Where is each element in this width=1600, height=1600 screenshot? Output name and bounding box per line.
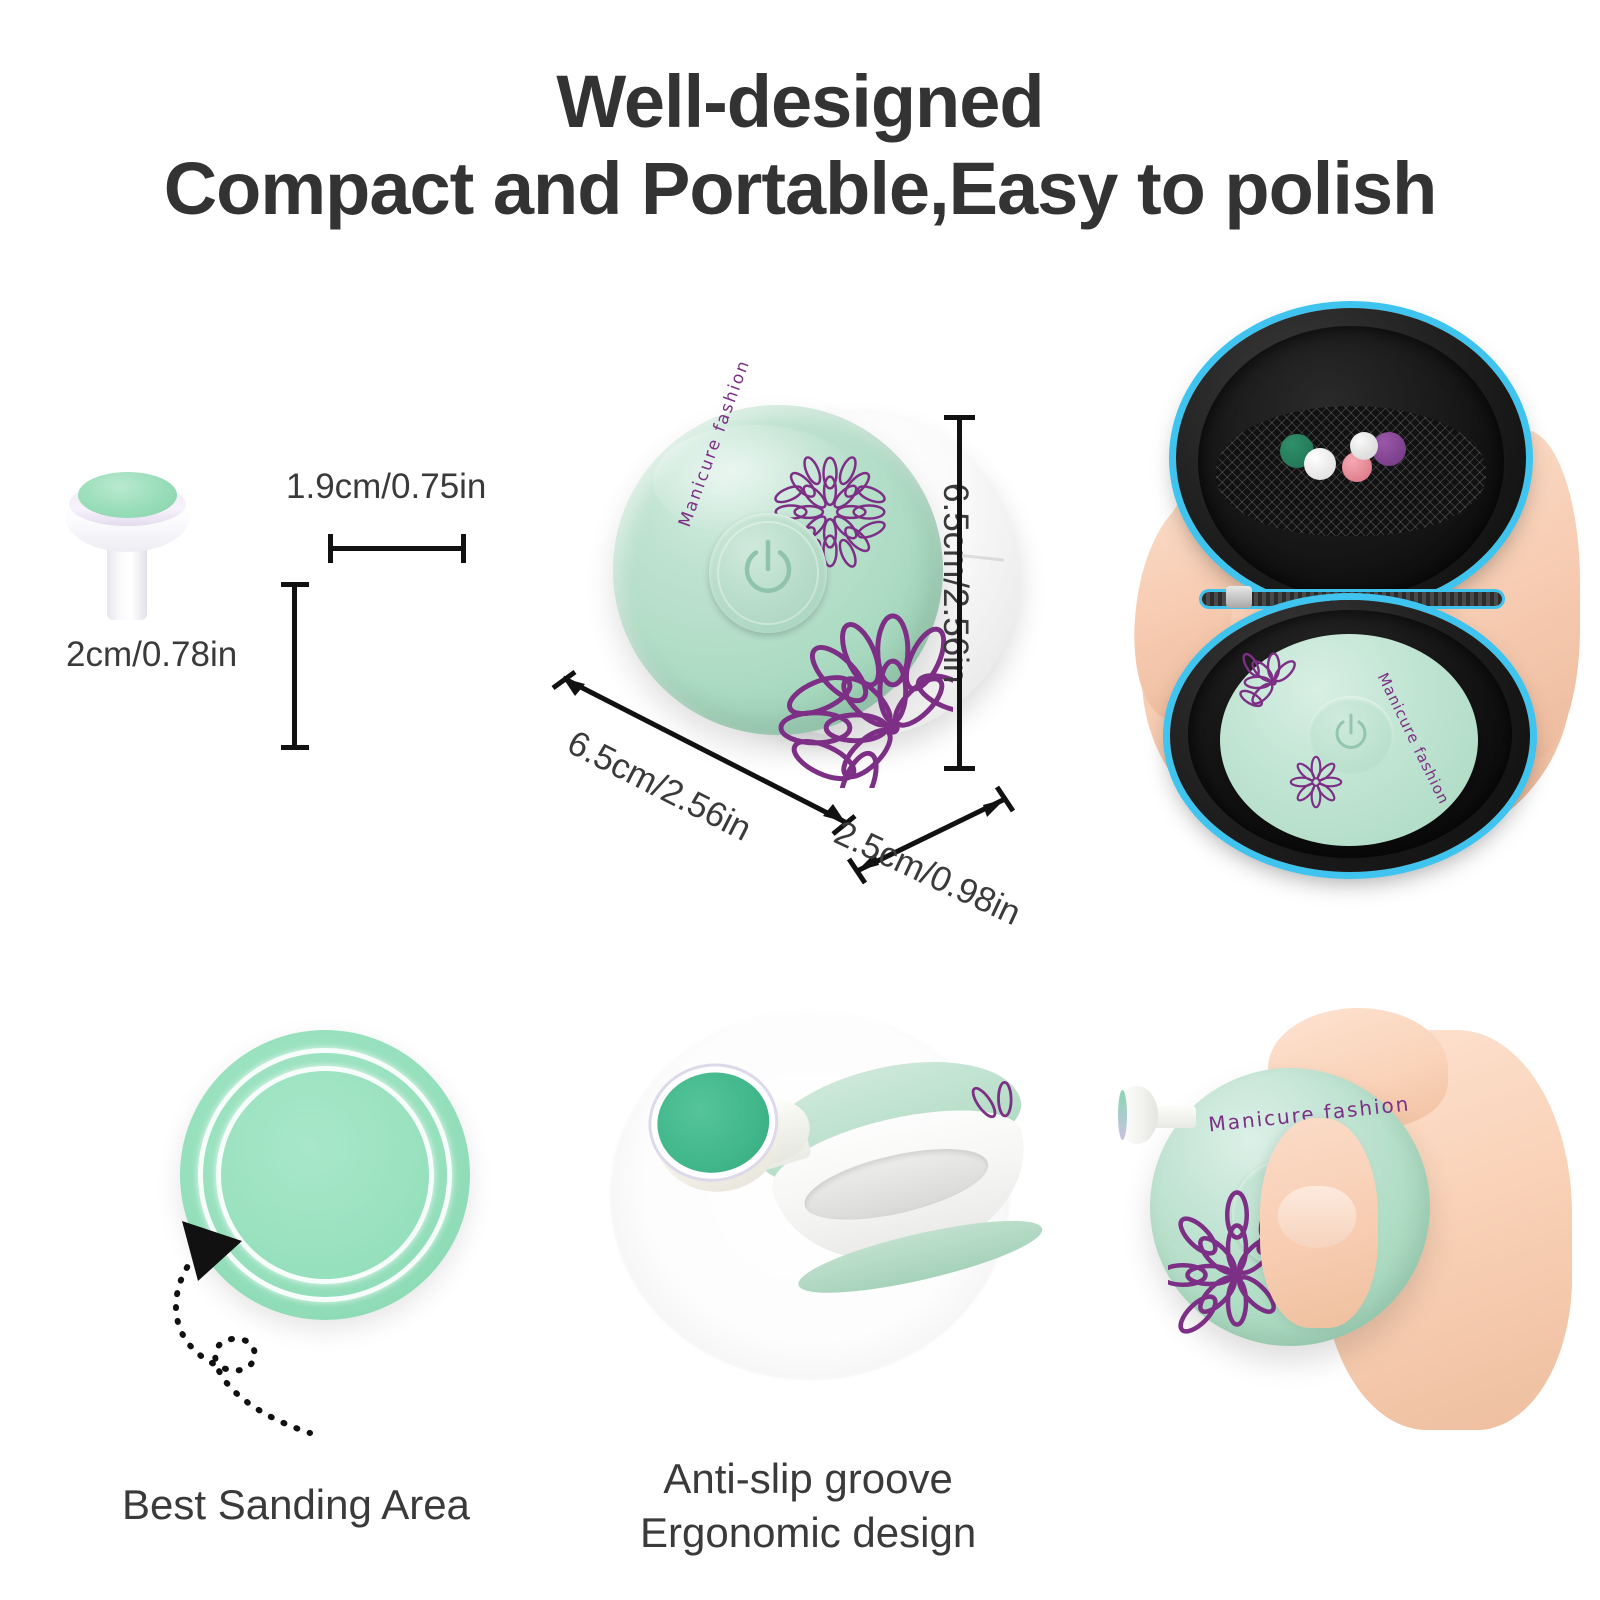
handheld-attachment xyxy=(1110,1086,1202,1146)
best-sanding-area-caption: Best Sanding Area xyxy=(122,1478,470,1532)
device-height-cap-bottom xyxy=(944,766,975,771)
handheld-attachment-head xyxy=(1116,1086,1158,1144)
device-in-case[interactable]: Manicure fashion xyxy=(1220,634,1478,846)
device-dimensions-panel: Manicure fashion 6.5cm/2.56in 6.5cm/2.56… xyxy=(545,375,1065,875)
anti-slip-groove-caption-line-1: Anti-slip groove xyxy=(640,1452,976,1506)
sanding-head-width-cap-left xyxy=(328,534,333,563)
sanding-head-height-cap-bottom xyxy=(281,745,309,750)
power-icon xyxy=(737,539,799,605)
headline-line-1: Well-designed xyxy=(0,58,1600,145)
case-in-hand-panel: Manicure fashion xyxy=(1130,300,1590,880)
sanding-head-width-line xyxy=(328,546,466,551)
sanding-head-photo xyxy=(60,460,195,620)
sanding-bit-white xyxy=(1304,448,1336,480)
device-height-label: 6.5cm/2.56in xyxy=(935,483,975,683)
case-base: Manicure fashion xyxy=(1170,600,1530,872)
sanding-head-pad xyxy=(78,472,177,518)
press-thumbnail xyxy=(1278,1186,1356,1248)
sanding-head-height-cap-top xyxy=(281,582,309,587)
flower-motif-lower xyxy=(1280,746,1352,818)
page-title: Well-designed Compact and Portable,Easy … xyxy=(0,58,1600,233)
curly-arrow-icon xyxy=(120,1215,380,1465)
sanding-head-width-cap-right xyxy=(461,534,466,563)
device-height-line xyxy=(957,415,962,771)
anti-slip-groove-panel xyxy=(590,1000,1060,1400)
flower-motif-upper xyxy=(1232,644,1312,724)
device-height-cap-top xyxy=(944,415,975,420)
case-lid xyxy=(1176,308,1526,608)
zipper-pull-icon[interactable] xyxy=(1226,586,1252,608)
headline-line-2: Compact and Portable,Easy to polish xyxy=(0,145,1600,232)
anti-slip-groove-caption-line-2: Ergonomic design xyxy=(640,1506,976,1560)
anti-slip-groove-caption: Anti-slip groove Ergonomic design xyxy=(640,1452,976,1560)
flower-motif-partial xyxy=(953,1058,1037,1142)
device-in-hand-panel: Manicure fashion xyxy=(1110,990,1590,1460)
power-button[interactable] xyxy=(709,513,827,633)
sanding-head-dimensions-panel: 1.9cm/0.75in 2cm/0.78in xyxy=(60,460,500,760)
sanding-bits-group xyxy=(1280,428,1430,508)
sanding-bit-light xyxy=(1350,432,1378,460)
handheld-attachment-stem xyxy=(1152,1106,1196,1128)
sanding-head-width-label: 1.9cm/0.75in xyxy=(286,467,486,507)
sanding-head-height-label: 2cm/0.78in xyxy=(66,635,237,675)
sanding-head-height-line xyxy=(292,582,297,750)
